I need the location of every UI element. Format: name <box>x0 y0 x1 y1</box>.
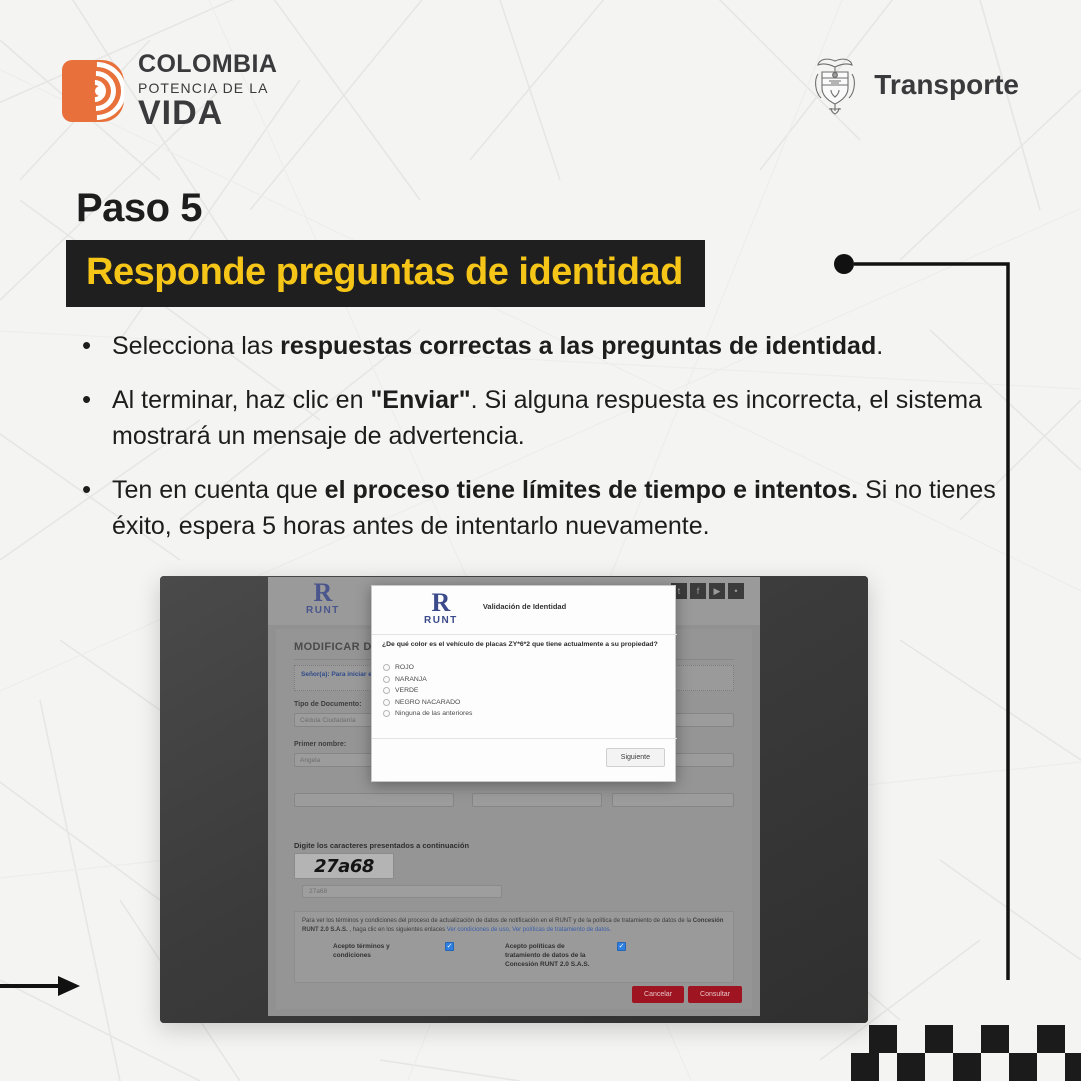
logo-line-potencia: POTENCIA DE LA <box>138 81 277 95</box>
answer-option-label: ROJO <box>395 664 414 671</box>
terms-link-conditions[interactable]: Ver condiciones de uso, <box>447 927 511 933</box>
terms-link-policies[interactable]: Ver políticas de tratamiento de datos. <box>510 927 611 933</box>
text-part: Selecciona las <box>112 332 280 360</box>
colombia-signal-icon <box>62 60 124 122</box>
bullet-marker-icon: • <box>78 472 112 544</box>
field-input-secondary-6[interactable] <box>472 793 602 807</box>
captcha-image: 27a68 <box>294 853 394 879</box>
cancel-button[interactable]: Cancelar <box>632 986 684 1003</box>
runt-logo: R RUNT <box>306 581 340 616</box>
step-number-label: Paso 5 <box>76 186 202 231</box>
logo-line-vida: VIDA <box>138 96 277 130</box>
consent-row-terms: Acepto términos y condiciones ✓ <box>333 942 454 960</box>
text-part: . <box>876 332 883 360</box>
terms-text: Para ver los términos y condiciones del … <box>302 917 726 934</box>
captcha-input[interactable]: 27a68 <box>302 885 502 898</box>
text-part: Al terminar, haz clic en <box>112 386 370 414</box>
answer-option-rojo[interactable]: ROJO <box>383 664 472 671</box>
form-actions: Cancelar Consultar <box>632 986 742 1003</box>
step-headline-text: Responde preguntas de identidad <box>86 251 683 294</box>
answer-option-label: Ninguna de las anteriores <box>395 710 472 717</box>
list-item: • Ten en cuenta que el proceso tiene lím… <box>78 472 1008 544</box>
instruction-list: • Selecciona las respuestas correctas a … <box>78 328 1008 562</box>
colombia-coat-of-arms-icon <box>812 54 858 116</box>
list-item-text: Selecciona las respuestas correctas a la… <box>112 328 883 364</box>
next-button[interactable]: Siguiente <box>606 748 665 767</box>
colombia-logo: COLOMBIA POTENCIA DE LA VIDA <box>62 52 277 130</box>
list-item-text: Al terminar, haz clic en "Enviar". Si al… <box>112 382 1008 454</box>
radio-icon[interactable] <box>383 676 390 683</box>
radio-icon[interactable] <box>383 699 390 706</box>
list-item: • Al terminar, haz clic en "Enviar". Si … <box>78 382 1008 454</box>
consent-label-terms: Acepto términos y condiciones <box>333 942 419 960</box>
runt-mark: R <box>306 581 340 605</box>
field-label-tipo-documento: Tipo de Documento: <box>294 701 362 708</box>
runt-wordmark: RUNT <box>306 605 340 616</box>
answer-option-naranja[interactable]: NARANJA <box>383 676 472 683</box>
rss-icon[interactable]: • <box>728 583 744 599</box>
answer-option-label: NARANJA <box>395 676 427 683</box>
field-input-secondary-7[interactable] <box>612 793 734 807</box>
checkered-flag-pattern <box>851 1025 1081 1081</box>
modal-question-text: ¿De qué color es el vehículo de placas Z… <box>382 640 667 650</box>
logo-line-colombia: COLOMBIA <box>138 52 277 77</box>
consent-row-policies: Acepto políticas de tratamiento de datos… <box>505 942 626 969</box>
facebook-icon[interactable]: f <box>690 583 706 599</box>
consult-button[interactable]: Consultar <box>688 986 742 1003</box>
answer-option-label: NEGRO NACARADO <box>395 699 460 706</box>
identity-validation-modal: R RUNT Validación de Identidad ¿De qué c… <box>371 585 676 782</box>
consent-checkbox-terms[interactable]: ✓ <box>445 942 454 951</box>
captcha-label: Digite los caracteres presentados a cont… <box>294 841 469 850</box>
text-part-bold: el proceso tiene límites de tiempo e int… <box>325 476 858 504</box>
terms-section: Para ver los términos y condiciones del … <box>294 911 734 983</box>
answer-option-ninguna[interactable]: Ninguna de las anteriores <box>383 710 472 717</box>
text-part: Ten en cuenta que <box>112 476 325 504</box>
step-headline-banner: Responde preguntas de identidad <box>66 240 705 307</box>
youtube-icon[interactable]: ▶ <box>709 583 725 599</box>
consent-label-policies: Acepto políticas de tratamiento de datos… <box>505 942 591 969</box>
consent-checkbox-policies[interactable]: ✓ <box>617 942 626 951</box>
connector-dot <box>834 254 854 274</box>
text-part-bold: "Enviar" <box>370 386 470 414</box>
answer-option-negro-nacarado[interactable]: NEGRO NACARADO <box>383 699 472 706</box>
modal-title: Validación de Identidad <box>372 602 677 611</box>
answer-option-verde[interactable]: VERDE <box>383 687 472 694</box>
transporte-label: Transporte <box>874 69 1019 101</box>
radio-icon[interactable] <box>383 664 390 671</box>
terms-intro: Para ver los términos y condiciones del … <box>302 918 693 924</box>
page-header: COLOMBIA POTENCIA DE LA VIDA Transporte <box>0 44 1081 139</box>
radio-icon[interactable] <box>383 710 390 717</box>
answer-options: ROJO NARANJA VERDE NEGRO NACARADO Ningun… <box>383 664 472 722</box>
arrow-right-icon <box>0 968 100 1008</box>
modal-divider-top <box>372 634 677 635</box>
bullet-marker-icon: • <box>78 382 112 454</box>
social-links[interactable]: t f ▶ • <box>671 583 744 599</box>
bullet-marker-icon: • <box>78 328 112 364</box>
radio-icon[interactable] <box>383 687 390 694</box>
modal-runt-wordmark: RUNT <box>424 615 458 626</box>
list-item-text: Ten en cuenta que el proceso tiene límit… <box>112 472 1008 544</box>
terms-mid: , haga clic en los siguientes enlaces <box>348 927 447 933</box>
transporte-logo: Transporte <box>812 54 1019 116</box>
text-part-bold: respuestas correctas a las preguntas de … <box>280 332 876 360</box>
colombia-logo-words: COLOMBIA POTENCIA DE LA VIDA <box>138 52 277 130</box>
answer-option-label: VERDE <box>395 687 418 694</box>
field-input-secondary-5[interactable] <box>294 793 454 807</box>
field-label-primer-nombre: Primer nombre: <box>294 741 346 748</box>
captcha-image-text: 27a68 <box>314 856 374 877</box>
modal-divider-bottom <box>372 738 677 739</box>
list-item: • Selecciona las respuestas correctas a … <box>78 328 1008 364</box>
